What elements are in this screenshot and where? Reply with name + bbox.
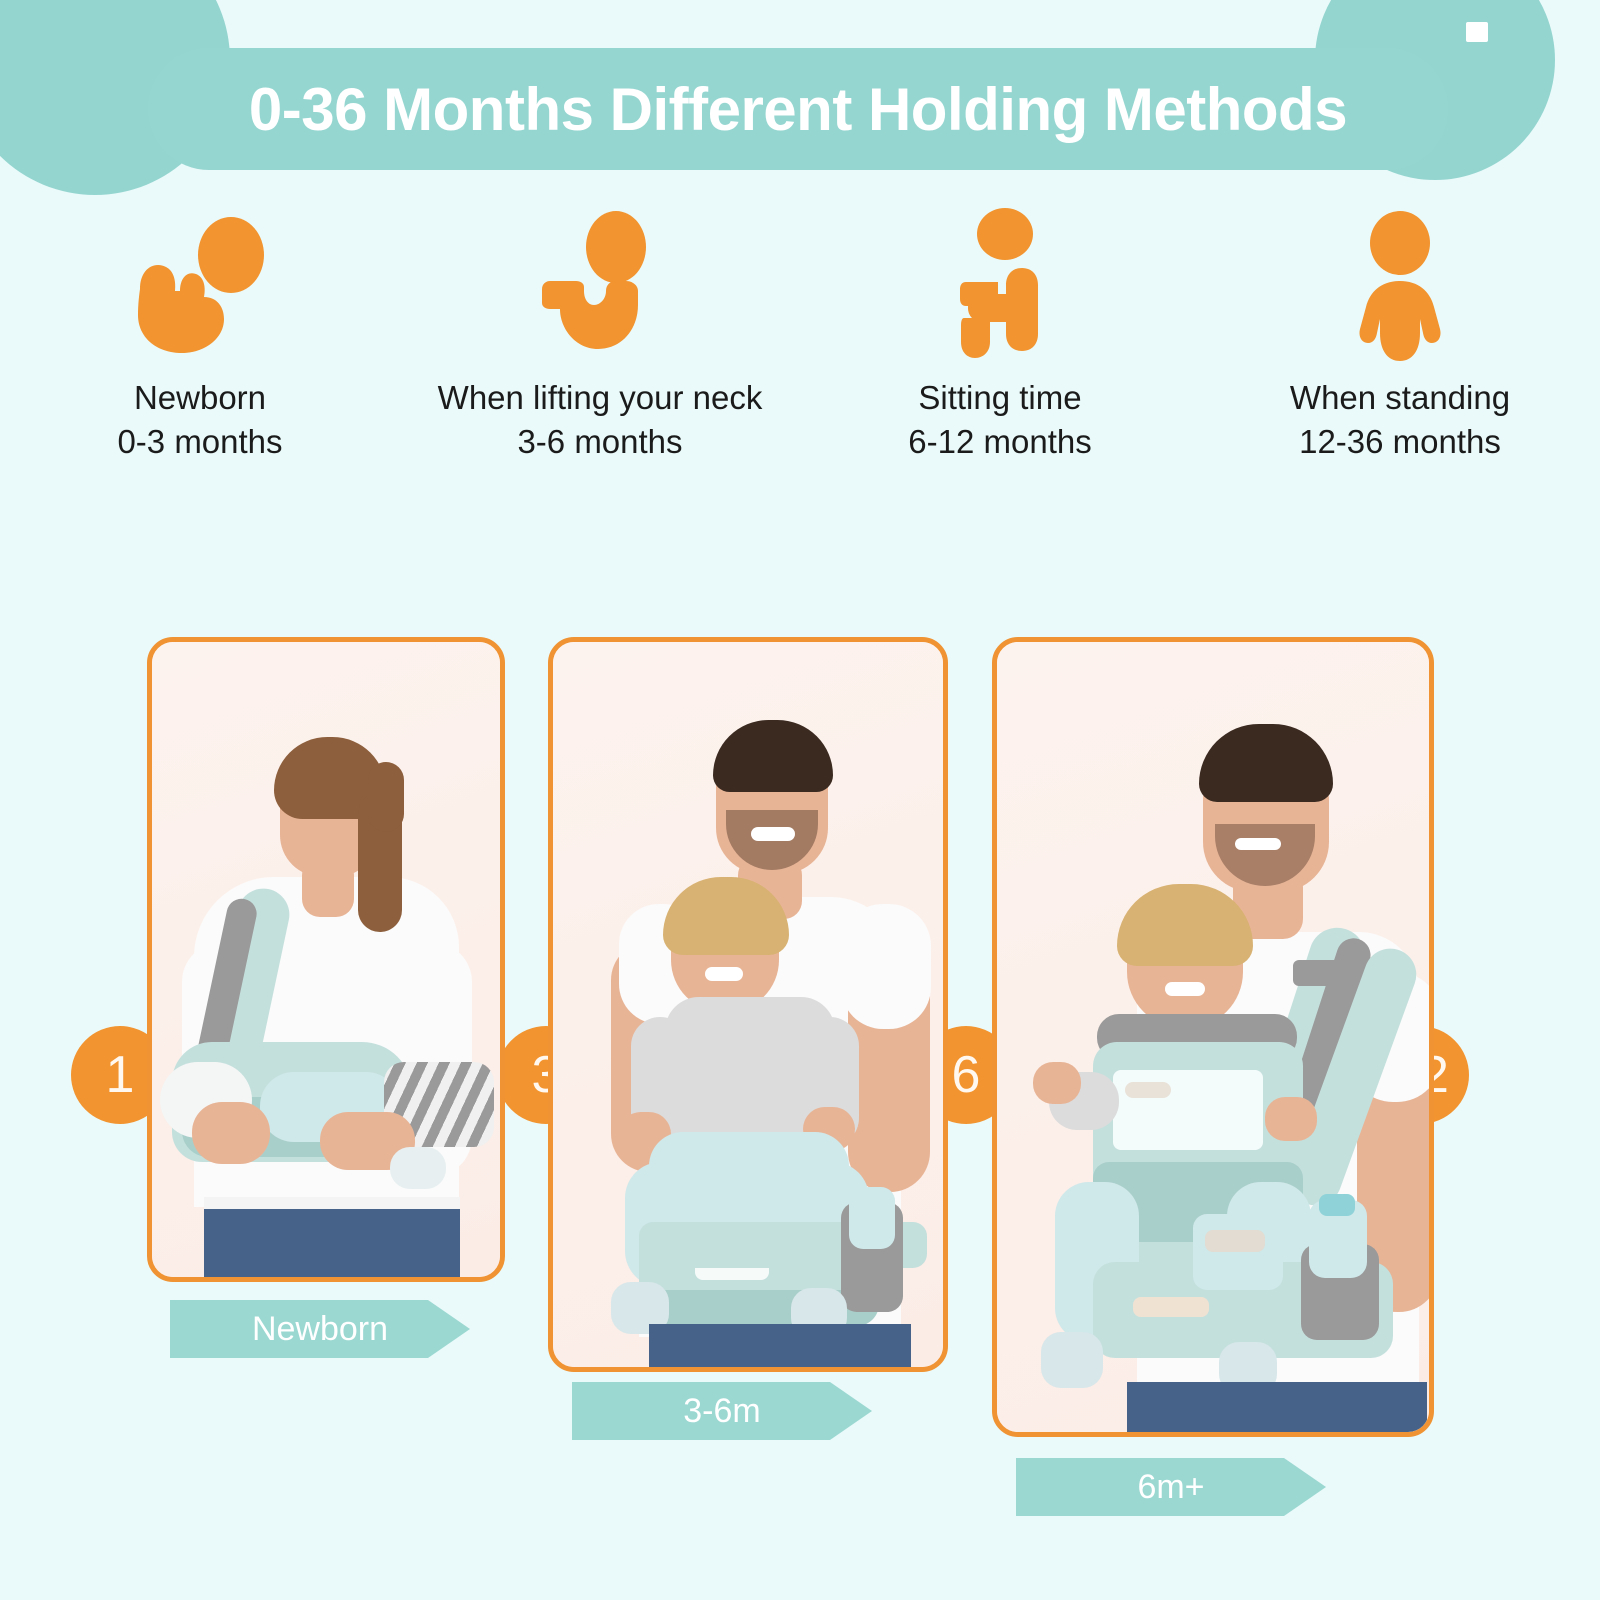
stage-caption: Sitting time 6-12 months bbox=[908, 376, 1091, 463]
title-banner: 0-36 Months Different Holding Methods bbox=[148, 48, 1448, 170]
stage-age: 0-3 months bbox=[117, 420, 282, 464]
page-title: 0-36 Months Different Holding Methods bbox=[249, 75, 1347, 144]
age-timeline: 1 3 6 12 bbox=[0, 505, 1600, 640]
stage-lifting-neck: When lifting your neck 3-6 months bbox=[400, 196, 800, 496]
ribbon-label: 6m+ bbox=[1137, 1468, 1204, 1507]
stage-name: When lifting your neck bbox=[438, 376, 763, 420]
baby-standing-icon bbox=[1320, 196, 1480, 376]
decorative-speck bbox=[1466, 22, 1488, 42]
stage-caption: When lifting your neck 3-6 months bbox=[438, 376, 763, 463]
baby-lying-icon bbox=[120, 196, 280, 376]
stage-sitting: Sitting time 6-12 months bbox=[800, 196, 1200, 496]
ribbon-6m-plus: 6m+ bbox=[1016, 1458, 1326, 1516]
photo-3-6m bbox=[553, 642, 943, 1367]
baby-sitting-icon bbox=[920, 196, 1080, 376]
ribbon-label: 3-6m bbox=[683, 1392, 760, 1431]
ribbon-3-6m: 3-6m bbox=[572, 1382, 872, 1440]
photo-newborn bbox=[152, 642, 500, 1277]
ribbon-label: Newborn bbox=[252, 1310, 388, 1349]
baby-lifting-neck-icon bbox=[520, 196, 680, 376]
stage-caption: When standing 12-36 months bbox=[1290, 376, 1510, 463]
stage-newborn: Newborn 0-3 months bbox=[0, 196, 400, 496]
panel-3-6m[interactable] bbox=[548, 637, 948, 1372]
stage-age: 3-6 months bbox=[438, 420, 763, 464]
stage-name: When standing bbox=[1290, 376, 1510, 420]
stage-name: Newborn bbox=[117, 376, 282, 420]
stage-row: Newborn 0-3 months When lifting your nec… bbox=[0, 196, 1600, 496]
stage-name: Sitting time bbox=[908, 376, 1091, 420]
panel-newborn[interactable] bbox=[147, 637, 505, 1282]
stage-caption: Newborn 0-3 months bbox=[117, 376, 282, 463]
stage-age: 12-36 months bbox=[1290, 420, 1510, 464]
ribbon-newborn: Newborn bbox=[170, 1300, 470, 1358]
stage-standing: When standing 12-36 months bbox=[1200, 196, 1600, 496]
stage-age: 6-12 months bbox=[908, 420, 1091, 464]
panel-6m-plus[interactable] bbox=[992, 637, 1434, 1437]
photo-6m-plus bbox=[997, 642, 1429, 1432]
